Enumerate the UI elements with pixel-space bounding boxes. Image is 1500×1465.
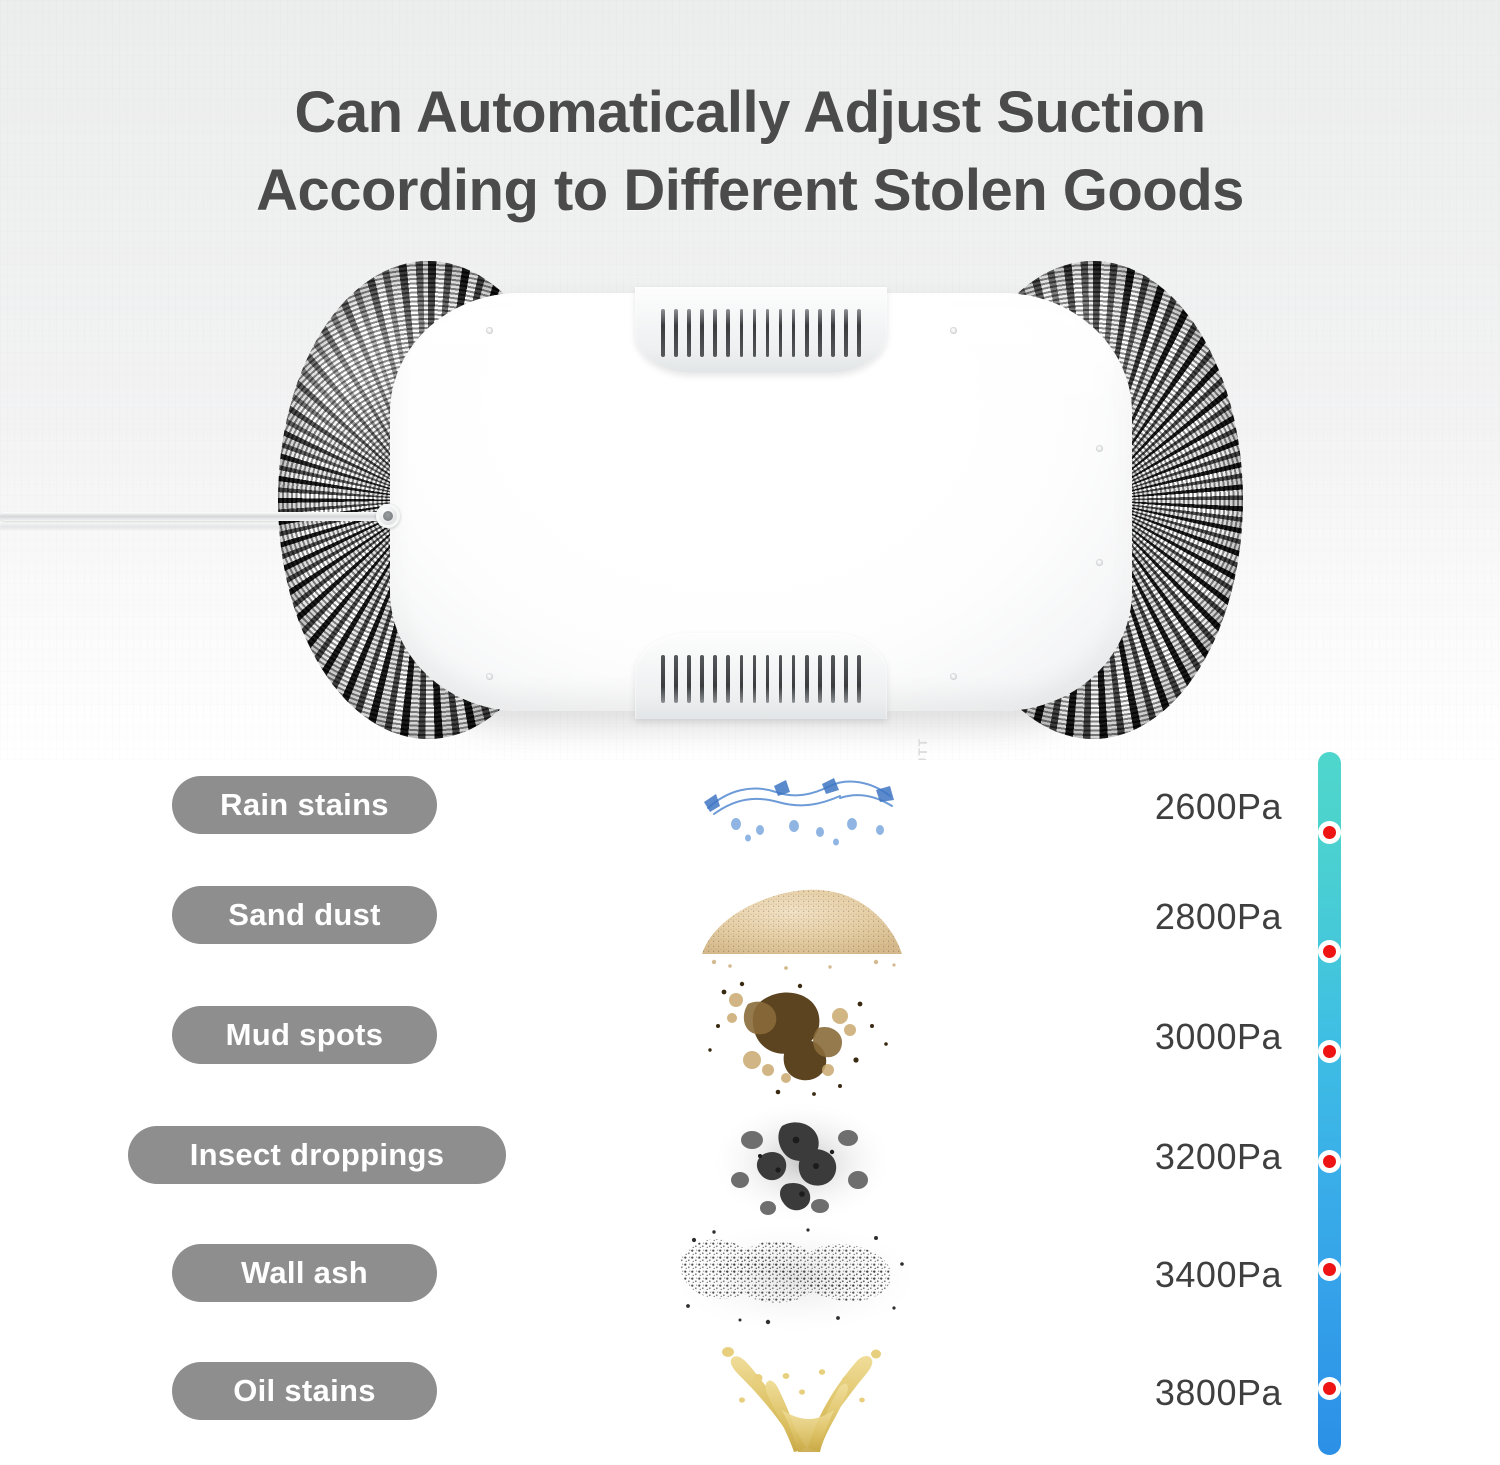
suction-comparison-section: Rain stains (0, 760, 1500, 1465)
shell-dimple (1096, 445, 1103, 452)
table-row: Insect droppings (0, 1110, 1500, 1210)
scale-marker-3800pa (1318, 1377, 1341, 1400)
shell-dimple (950, 673, 957, 680)
shell-dimple (1096, 559, 1103, 566)
category-pill-oil-stains[interactable]: Oil stains (172, 1362, 437, 1420)
vent-grille-bottom (635, 633, 887, 719)
window-cleaning-robot: HUTT (278, 255, 1243, 745)
safety-tether-cable (0, 512, 390, 521)
shell-dimple (486, 673, 493, 680)
category-pill-wall-ash[interactable]: Wall ash (172, 1244, 437, 1302)
insect-droppings-icon (690, 1096, 920, 1231)
scale-marker-3400pa (1318, 1258, 1341, 1281)
brand-name: HUTT (916, 737, 930, 760)
water-splash-icon (690, 758, 920, 858)
pressure-value: 3000Pa (1155, 1016, 1282, 1058)
table-row: Rain stains (0, 760, 1500, 860)
vent-grille-top (635, 287, 887, 373)
vent-slots-bottom (661, 655, 861, 703)
suction-gradient-scale (1318, 752, 1341, 1455)
table-row: Oil stains (0, 1346, 1500, 1446)
shell-dimple (950, 327, 957, 334)
tether-anchor (376, 504, 400, 528)
shell-dimple (486, 327, 493, 334)
table-row: Wall ash (0, 1228, 1500, 1328)
title-line-1: Can Automatically Adjust Suction (0, 74, 1500, 152)
mud-splatter-icon (690, 974, 920, 1104)
category-pill-mud-spots[interactable]: Mud spots (172, 1006, 437, 1064)
pressure-value: 3400Pa (1155, 1254, 1282, 1296)
robot-body-shell: HUTT (390, 293, 1132, 711)
sand-pile-icon (690, 858, 920, 983)
table-row: Sand dust (0, 870, 1500, 970)
pressure-value: 3200Pa (1155, 1136, 1282, 1178)
page-title: Can Automatically Adjust Suction Accordi… (0, 74, 1500, 230)
title-line-2: According to Different Stolen Goods (0, 152, 1500, 230)
ash-speckle-icon (670, 1214, 920, 1344)
scale-marker-2600pa (1318, 821, 1341, 844)
pressure-value: 2600Pa (1155, 786, 1282, 828)
scale-marker-3000pa (1318, 1040, 1341, 1063)
category-pill-insect-droppings[interactable]: Insect droppings (128, 1126, 506, 1184)
vent-slots-top (661, 309, 861, 357)
oil-splash-icon (690, 1330, 920, 1455)
pressure-value: 3800Pa (1155, 1372, 1282, 1414)
hero-section: Can Automatically Adjust Suction Accordi… (0, 0, 1500, 760)
scale-marker-2800pa (1318, 940, 1341, 963)
scale-marker-3200pa (1318, 1150, 1341, 1173)
table-row: Mud spots (0, 990, 1500, 1090)
category-pill-sand-dust[interactable]: Sand dust (172, 886, 437, 944)
category-pill-rain-stains[interactable]: Rain stains (172, 776, 437, 834)
pressure-value: 2800Pa (1155, 896, 1282, 938)
